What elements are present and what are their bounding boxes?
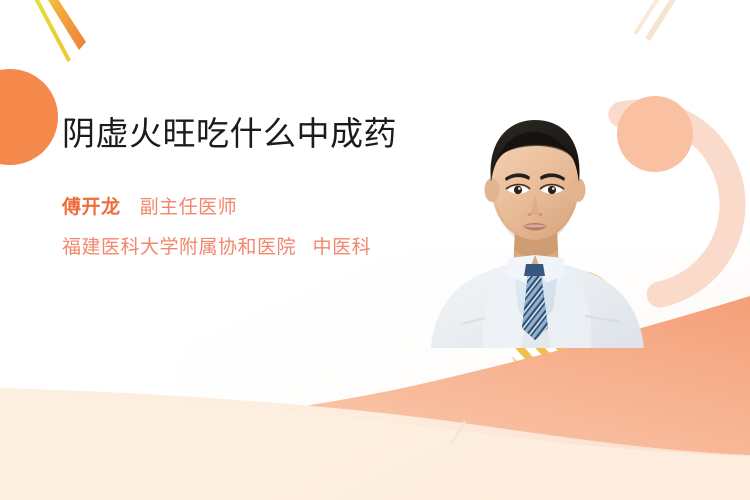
- hospital-name: 福建医科大学附属协和医院: [62, 236, 296, 258]
- department-name: 中医科: [313, 236, 372, 258]
- diagonal-stripes-top-left: [33, 0, 87, 62]
- page-title: 阴虚火旺吃什么中成药: [62, 112, 422, 156]
- diagonal-stripes-top-right: [633, 0, 677, 41]
- doctor-affiliation-line: 福建医科大学附属协和医院 中医科: [62, 232, 422, 259]
- doctor-name: 傅开龙: [62, 196, 121, 218]
- doctor-portrait: [425, 78, 650, 348]
- orange-circle-left: [0, 69, 58, 165]
- cover-text-block: 阴虚火旺吃什么中成药 傅开龙 副主任医师 福建医科大学附属协和医院 中医科: [62, 112, 422, 259]
- doctor-article-cover-card: 阴虚火旺吃什么中成药 傅开龙 副主任医师 福建医科大学附属协和医院 中医科: [0, 0, 750, 500]
- doctor-identity-line: 傅开龙 副主任医师: [62, 192, 422, 219]
- doctor-rank: 副主任医师: [140, 196, 238, 218]
